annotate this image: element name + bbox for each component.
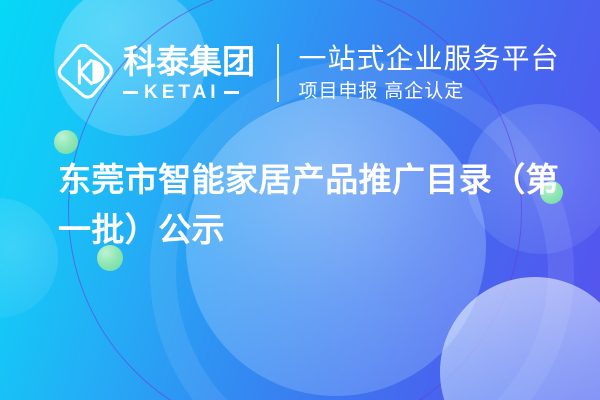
brand-name-en: KETAI xyxy=(144,83,220,102)
header-divider xyxy=(277,44,279,102)
tagline-block: 一站式企业服务平台 项目申报 高企认定 xyxy=(299,43,560,103)
kp-monogram-icon xyxy=(56,42,116,104)
brand-name-en-row: KETAI xyxy=(123,83,255,102)
wordmark-rule-right xyxy=(224,91,239,94)
wordmark-rule-left xyxy=(123,91,138,94)
brand-wordmark: 科泰集团 KETAI xyxy=(123,45,255,102)
background-circle-right xyxy=(440,277,600,400)
accent-dot-green-upper-left xyxy=(54,130,78,154)
banner-header: 科泰集团 KETAI 一站式企业服务平台 项目申报 高企认定 xyxy=(56,42,560,104)
brand-name-cn: 科泰集团 xyxy=(123,45,255,78)
tagline-primary: 一站式企业服务平台 xyxy=(299,43,560,74)
kp-monogram-p-bowl xyxy=(92,60,104,85)
background-circle-left xyxy=(0,198,58,318)
banner-headline: 东莞市智能家居产品推广目录（第一批）公示 xyxy=(58,155,568,255)
brand-logo[interactable]: 科泰集团 KETAI xyxy=(56,42,255,104)
tagline-secondary: 项目申报 高企认定 xyxy=(299,81,560,103)
promo-banner: 科泰集团 KETAI 一站式企业服务平台 项目申报 高企认定 东莞市智能家居产品… xyxy=(0,0,600,400)
